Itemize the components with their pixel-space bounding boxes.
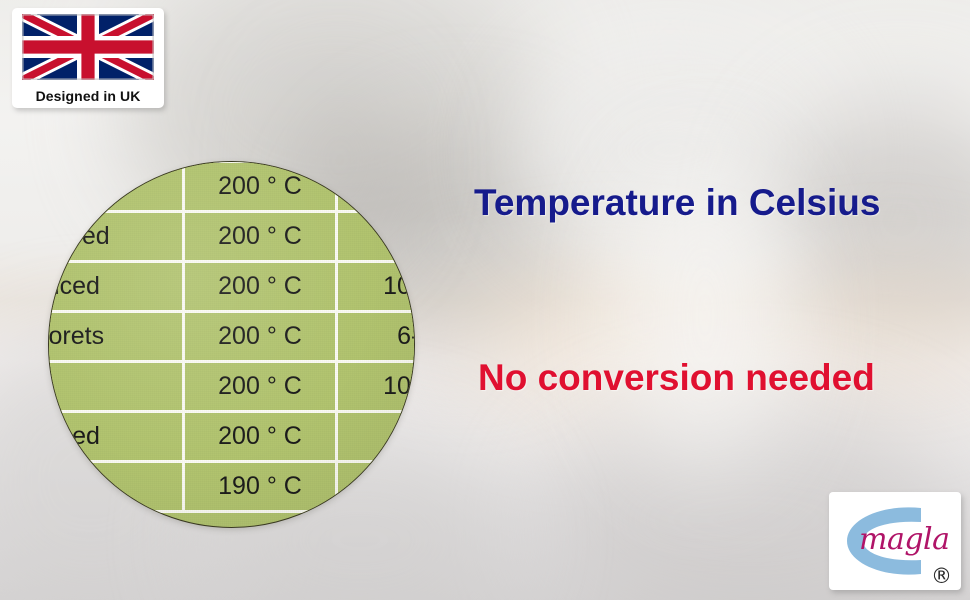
magnifier-lens: ets 200 ° C halved 200 ° C 8-10 sliced 2… — [48, 161, 415, 528]
cell-prep: ters — [48, 462, 183, 512]
cell-temperature: 200 ° C — [183, 162, 337, 212]
designed-in-uk-label: Designed in UK — [12, 88, 164, 104]
table-row: sliced 200 ° C 6-8 — [48, 412, 415, 462]
cooking-chart-body: ets 200 ° C halved 200 ° C 8-10 sliced 2… — [48, 162, 415, 512]
cell-time — [337, 462, 415, 512]
cell-temperature: 200 ° C — [183, 312, 337, 362]
cell-time: 10-12 — [337, 362, 415, 412]
table-row: ters 190 ° C — [48, 462, 415, 512]
table-row: sliced 200 ° C 10-12 — [48, 262, 415, 312]
headline-temperature-in-celsius: Temperature in Celsius — [474, 182, 880, 224]
cell-time: 10-12 — [337, 262, 415, 312]
table-row: halved 200 ° C 8-10 — [48, 212, 415, 262]
cell-prep: sliced — [48, 412, 183, 462]
cell-temperature: 200 ° C — [183, 212, 337, 262]
table-row: florets 200 ° C 6-8 — [48, 312, 415, 362]
cell-time: 8-10 — [337, 212, 415, 262]
cell-temperature: 200 ° C — [183, 262, 337, 312]
cooking-chart-table-wrapper: ets 200 ° C halved 200 ° C 8-10 sliced 2… — [48, 161, 415, 513]
registered-trademark-icon: ® — [931, 564, 952, 588]
designed-in-uk-badge: Designed in UK — [12, 8, 164, 108]
poster-canvas: Designed in UK ets 200 ° C halved 200 ° … — [0, 0, 970, 600]
table-row: ets 200 ° C — [48, 162, 415, 212]
cell-prep: sliced — [48, 262, 183, 312]
headline-no-conversion-needed: No conversion needed — [478, 357, 875, 399]
cell-time: 6-8 — [337, 312, 415, 362]
union-jack-flag-icon — [22, 14, 154, 80]
cell-temperature: 200 ° C — [183, 412, 337, 462]
cell-prep: halved — [48, 212, 183, 262]
magla-logo-badge: magla ® — [829, 492, 961, 590]
cell-time — [337, 162, 415, 212]
cooking-chart-table: ets 200 ° C halved 200 ° C 8-10 sliced 2… — [48, 161, 415, 513]
cell-temperature: 200 ° C — [183, 362, 337, 412]
cell-prep — [48, 362, 183, 412]
magla-wordmark: magla — [859, 522, 950, 557]
cell-time: 6-8 — [337, 412, 415, 462]
cell-prep: florets — [48, 312, 183, 362]
table-row: 200 ° C 10-12 — [48, 362, 415, 412]
cell-temperature: 190 ° C — [183, 462, 337, 512]
cell-prep: ets — [48, 162, 183, 212]
